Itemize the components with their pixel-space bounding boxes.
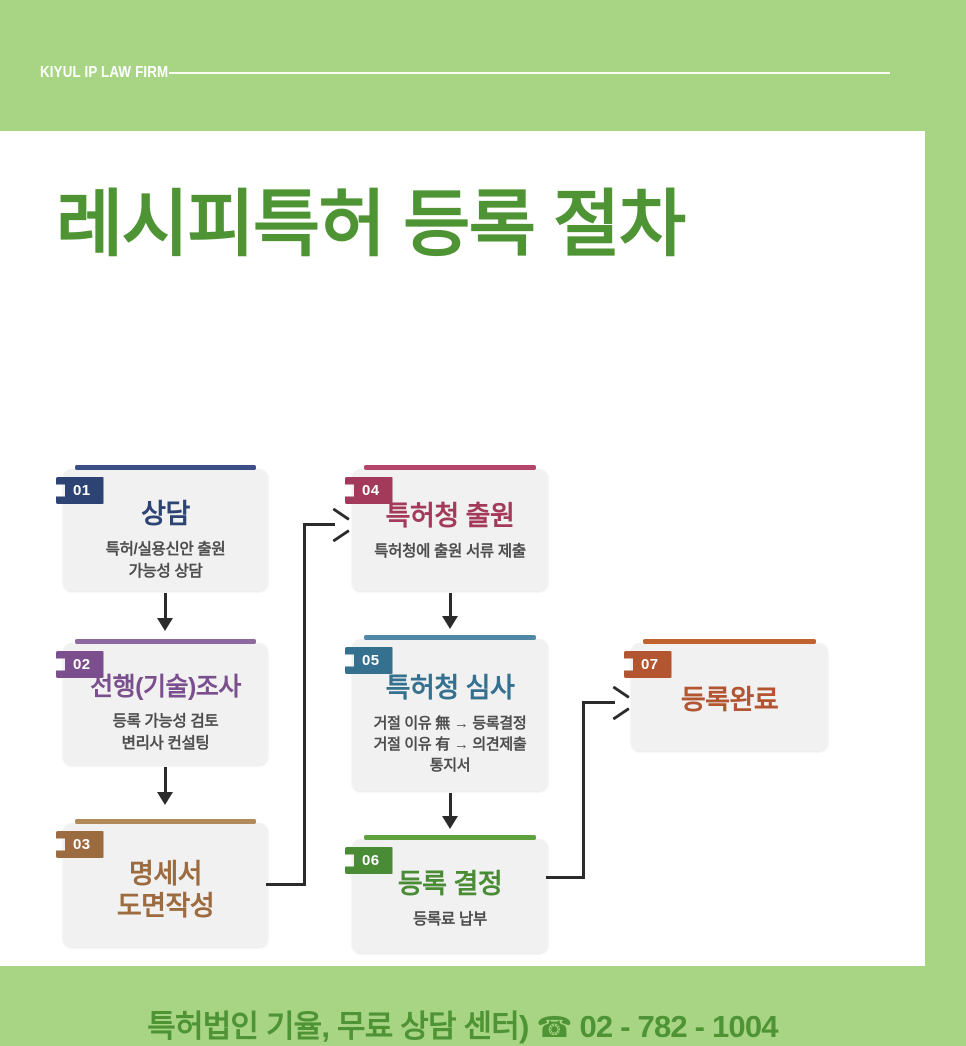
- connector-06-07-arrowhead: [610, 692, 632, 714]
- card-accent-bar-07: [643, 639, 816, 644]
- step-number-badge-05: 05: [345, 647, 393, 674]
- step-card-03[interactable]: 03 명세서 도면작성: [63, 823, 268, 947]
- header-divider-rule: [169, 72, 890, 74]
- step-number-badge-03: 03: [56, 831, 104, 858]
- connector-03-04-arrowhead: [330, 514, 352, 536]
- card-body-03: 명세서 도면작성: [63, 859, 268, 923]
- step-card-06[interactable]: 06 등록 결정 등록료 납부: [352, 839, 548, 953]
- card-body-06: 등록 결정 등록료 납부: [352, 869, 548, 931]
- card-accent-bar-02: [75, 639, 256, 644]
- card-title-04: 특허청 출원: [362, 501, 538, 533]
- connector-03-04-segment-h1: [266, 883, 306, 886]
- card-title-02: 선행(기술)조사: [73, 673, 258, 703]
- step-card-01[interactable]: 01 상담 특허/실용신안 출원 가능성 상담: [63, 469, 268, 591]
- card-accent-bar-01: [75, 465, 256, 470]
- card-body-01: 상담 특허/실용신안 출원 가능성 상담: [63, 499, 268, 583]
- card-title-05: 특허청 심사: [362, 673, 538, 705]
- card-subtitle-05: 거절 이유 無 → 등록결정 거절 이유 有 → 의견제출 통지서: [362, 713, 538, 777]
- step-number-badge-04: 04: [345, 477, 393, 504]
- brand-name: KIYUL IP LAW FIRM: [40, 64, 168, 82]
- phone-icon: ☎: [536, 1012, 571, 1044]
- step-card-05[interactable]: 05 특허청 심사 거절 이유 無 → 등록결정 거절 이유 有 → 의견제출 …: [352, 639, 548, 791]
- connector-06-07-segment-v: [582, 701, 585, 879]
- footer-contact: 특허법인 기율, 무료 상담 센터) ☎ 02 - 782 - 1004: [0, 1001, 925, 1046]
- process-flowchart: 01 상담 특허/실용신안 출원 가능성 상담 02 선행(기술)조사 등록 가…: [0, 131, 925, 966]
- card-body-07: 등록완료: [631, 685, 828, 717]
- connector-03-04-segment-v: [303, 523, 306, 886]
- connector-06-07-segment-h1: [546, 876, 585, 879]
- brand-row: KIYUL IP LAW FIRM: [40, 60, 890, 86]
- card-accent-bar-06: [364, 835, 536, 840]
- card-title-03: 명세서 도면작성: [73, 859, 258, 923]
- card-subtitle-01: 특허/실용신안 출원 가능성 상담: [73, 539, 258, 583]
- card-body-04: 특허청 출원 특허청에 출원 서류 제출: [352, 501, 548, 563]
- card-body-05: 특허청 심사 거절 이유 無 → 등록결정 거절 이유 有 → 의견제출 통지서: [352, 673, 548, 777]
- step-card-02[interactable]: 02 선행(기술)조사 등록 가능성 검토 변리사 컨설팅: [63, 643, 268, 765]
- footer-label: 특허법인 기율, 무료 상담 센터): [147, 1009, 528, 1044]
- header-band: KIYUL IP LAW FIRM: [0, 0, 966, 131]
- connector-04-05-arrowhead: [442, 616, 458, 629]
- step-card-07[interactable]: 07 등록완료: [631, 643, 828, 751]
- footer-phone-number[interactable]: 02 - 782 - 1004: [579, 1009, 777, 1044]
- connector-01-02-arrowhead: [157, 618, 173, 631]
- card-accent-bar-04: [364, 465, 536, 470]
- card-accent-bar-05: [364, 635, 536, 640]
- card-subtitle-06: 등록료 납부: [362, 909, 538, 931]
- card-title-01: 상담: [73, 499, 258, 531]
- card-subtitle-02: 등록 가능성 검토 변리사 컨설팅: [73, 711, 258, 755]
- connector-02-03-arrowhead: [157, 792, 173, 805]
- step-number-badge-07: 07: [624, 651, 672, 678]
- card-title-06: 등록 결정: [362, 869, 538, 901]
- step-card-04[interactable]: 04 특허청 출원 특허청에 출원 서류 제출: [352, 469, 548, 591]
- card-subtitle-04: 특허청에 출원 서류 제출: [362, 541, 538, 563]
- card-body-02: 선행(기술)조사 등록 가능성 검토 변리사 컨설팅: [63, 673, 268, 755]
- card-title-07: 등록완료: [641, 685, 818, 717]
- content-panel: 레시피특허 등록 절차 01 상담 특허/실용신안 출원 가능성 상담 02 선…: [0, 131, 925, 966]
- connector-05-06-arrowhead: [442, 816, 458, 829]
- card-accent-bar-03: [75, 819, 256, 824]
